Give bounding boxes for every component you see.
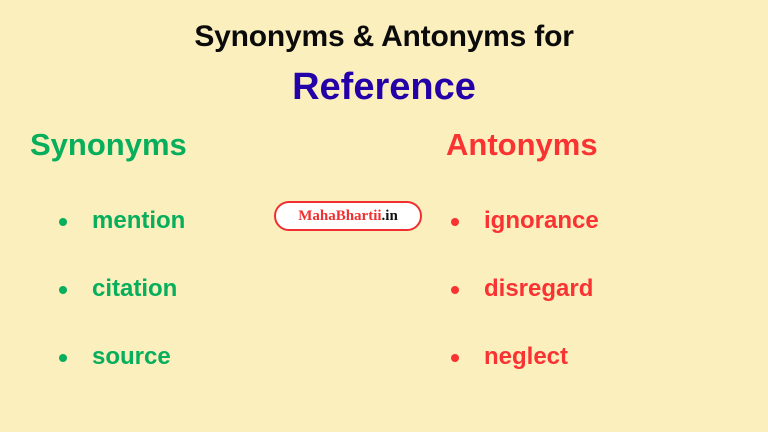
synonyms-list: mention citation source (0, 162, 384, 413)
synonyms-heading: Synonyms (0, 128, 384, 162)
antonyms-heading: Antonyms (384, 128, 768, 162)
synonym-word: citation (92, 277, 177, 301)
antonym-word: neglect (484, 345, 568, 369)
header: Synonyms & Antonyms for Reference (0, 0, 768, 109)
infographic-card: Synonyms & Antonyms for Reference Synony… (0, 0, 768, 432)
bullet-icon (451, 218, 459, 226)
bullet-icon (451, 286, 459, 294)
list-item: disregard (451, 277, 768, 345)
page-title: Synonyms & Antonyms for (0, 0, 768, 55)
watermark-name: MahaBhartii (298, 208, 381, 225)
bullet-icon (59, 218, 67, 226)
synonym-word: mention (92, 209, 185, 233)
list-item: source (59, 345, 384, 413)
bullet-icon (59, 286, 67, 294)
antonym-word: disregard (484, 277, 593, 301)
headword: Reference (0, 55, 768, 110)
bullet-icon (59, 354, 67, 362)
list-item: citation (59, 277, 384, 345)
bullet-icon (451, 354, 459, 362)
antonyms-list: ignorance disregard neglect (384, 162, 768, 413)
antonym-word: ignorance (484, 209, 599, 233)
synonyms-column: Synonyms mention citation source (0, 128, 384, 432)
watermark-badge: MahaBhartii.in (274, 201, 422, 231)
list-item: ignorance (451, 209, 768, 277)
antonyms-column: Antonyms ignorance disregard neglect (384, 128, 768, 432)
watermark-tld: .in (382, 208, 398, 225)
list-item: neglect (451, 345, 768, 413)
word-columns: Synonyms mention citation source Antonym… (0, 128, 768, 432)
synonym-word: source (92, 345, 171, 369)
